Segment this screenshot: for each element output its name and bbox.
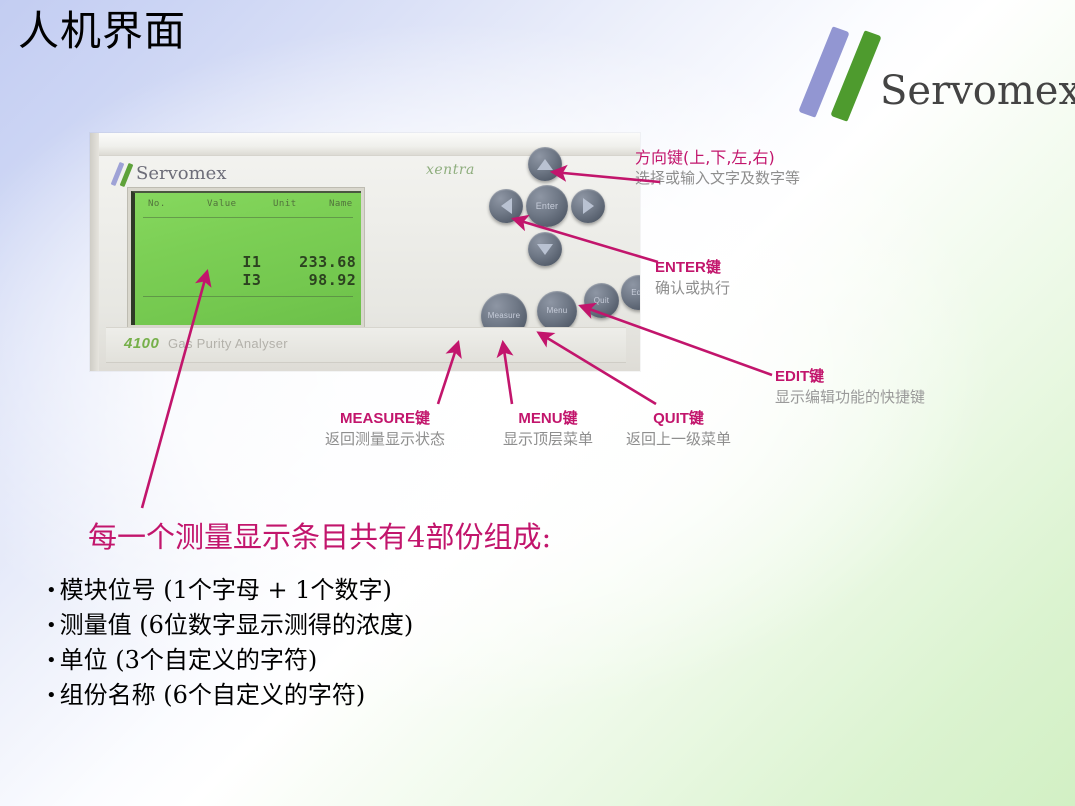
analyser-model-plate: 4100 Gas Purity Analyser (106, 327, 626, 363)
logo-wordmark: Servomex (880, 69, 1075, 113)
callout-description: 选择或输入文字及数字等 (635, 168, 800, 189)
lcd-header-unit: Unit (273, 199, 297, 209)
callout-description: 确认或执行 (655, 278, 730, 299)
callout-description: 显示编辑功能的快捷键 (775, 387, 925, 408)
left-arrow-key[interactable] (489, 189, 523, 223)
analyser-brand: Servomex (112, 161, 262, 187)
callout-heading: MEASURE键 (325, 409, 445, 429)
list-item: 测量值 (6位数字显示测得的浓度) (46, 608, 413, 643)
callout-enter-key: ENTER键 确认或执行 (655, 258, 730, 299)
device-brand-text: Servomex (136, 163, 226, 184)
triangle-up-icon (537, 159, 553, 170)
callout-heading: 方向键(上,下,左,右) (635, 148, 800, 168)
callout-measure-key: MEASURE键 返回测量显示状态 (325, 409, 445, 450)
list-item: 组份名称 (6个自定义的字符) (46, 678, 413, 713)
analyser-model-name: Gas Purity Analyser (168, 336, 288, 351)
analyser-left-edge (90, 133, 99, 371)
callout-heading: EDIT键 (775, 367, 925, 387)
callout-quit-key: QUIT键 返回上一级菜单 (626, 409, 731, 450)
lcd-row: I398.92ppmN2O (147, 253, 361, 310)
callout-menu-key: MENU键 显示顶层菜单 (503, 409, 593, 450)
analyser-photo: Servomex xentra No. Value Unit Name I123… (90, 133, 640, 371)
lcd-row-value: 98.92 (272, 271, 356, 289)
callout-description: 返回上一级菜单 (626, 429, 731, 450)
up-arrow-key[interactable] (528, 147, 562, 181)
quit-key[interactable]: Quit (584, 283, 619, 318)
servomex-logo: Servomex (790, 22, 1065, 122)
lcd-header-value: Value (207, 199, 237, 209)
lcd-rule-top (143, 217, 353, 218)
down-arrow-key[interactable] (528, 232, 562, 266)
callout-description: 显示顶层菜单 (503, 429, 593, 450)
lcd-header-name: Name (329, 199, 353, 209)
callout-description: 返回测量显示状态 (325, 429, 445, 450)
callout-heading: ENTER键 (655, 258, 730, 278)
callout-heading: MENU键 (503, 409, 593, 429)
list-item: 模块位号 (1个字母 + 1个数字) (46, 573, 413, 608)
lcd-row-unit: ppm (356, 271, 361, 289)
lcd-screen[interactable]: No. Value Unit Name I1233.68ppmCO2 I398.… (131, 191, 361, 325)
list-item: 单位 (3个自定义的字符) (46, 643, 413, 678)
analyser-model-number: 4100 (124, 335, 159, 352)
menu-key[interactable]: Menu (537, 291, 577, 331)
lcd-bezel: No. Value Unit Name I1233.68ppmCO2 I398.… (127, 187, 365, 329)
callout-edit-key: EDIT键 显示编辑功能的快捷键 (775, 367, 925, 408)
edit-key[interactable]: Edit (621, 275, 640, 310)
triangle-left-icon (501, 198, 512, 214)
enter-key[interactable]: Enter (526, 185, 568, 227)
body-heading: 每一个测量显示条目共有4部份组成: (88, 518, 551, 556)
lcd-row-no: I3 (242, 271, 272, 289)
callout-heading: QUIT键 (626, 409, 731, 429)
right-arrow-key[interactable] (571, 189, 605, 223)
triangle-down-icon (537, 244, 553, 255)
page-title: 人机界面 (18, 6, 186, 56)
triangle-right-icon (583, 198, 594, 214)
callout-direction-keys: 方向键(上,下,左,右) 选择或输入文字及数字等 (635, 148, 800, 189)
lcd-header-no: No. (148, 199, 166, 209)
bullet-list: 模块位号 (1个字母 + 1个数字) 测量值 (6位数字显示测得的浓度) 单位 … (46, 573, 413, 713)
